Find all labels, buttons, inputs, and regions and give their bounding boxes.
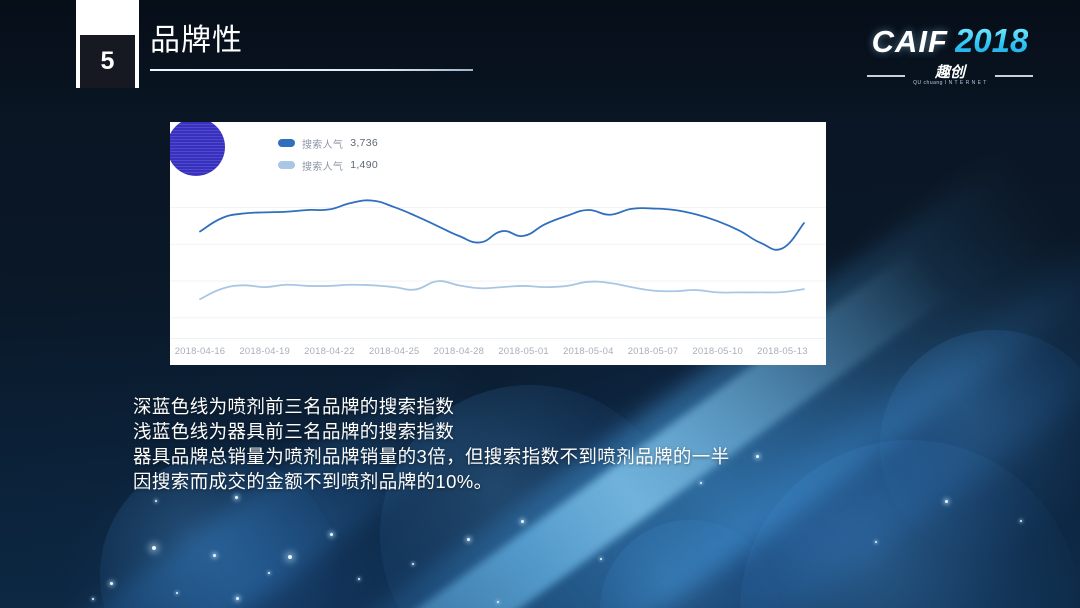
background-star [176, 592, 178, 594]
background-star [358, 578, 360, 580]
x-axis-tick-label: 2018-05-07 [628, 346, 679, 357]
brand-name: CAIF [872, 24, 948, 60]
background-star [875, 541, 877, 543]
x-axis-tick-label: 2018-04-19 [239, 346, 290, 357]
slide-number-inner: 5 [80, 35, 135, 88]
notes-line-3: 器具品牌总销量为喷剂品牌销量的3倍，但搜索指数不到喷剂品牌的一半 [133, 444, 730, 469]
chart-series-paths [200, 200, 804, 299]
background-star [213, 554, 216, 557]
chart-plot-area [170, 122, 826, 365]
chart-line [200, 281, 804, 299]
legend-swatch-icon [278, 139, 295, 147]
brand-sub-row: 趣创 QU chuang I N T E R N E T [855, 65, 1045, 86]
background-star [521, 520, 524, 523]
notes-block: 深蓝色线为喷剂前三名品牌的搜索指数 浅蓝色线为器具前三名品牌的搜索指数 器具品牌… [133, 394, 730, 494]
legend-label: 搜索人气 [302, 158, 343, 173]
notes-line-4: 因搜索而成交的金额不到喷剂品牌的10%。 [133, 469, 730, 494]
slide-number-badge: 5 [76, 0, 139, 88]
background-star [288, 555, 292, 559]
x-axis-tick-label: 2018-05-10 [692, 346, 743, 357]
background-star [1020, 520, 1022, 522]
notes-line-2: 浅蓝色线为器具前三名品牌的搜索指数 [133, 419, 730, 444]
brand-year: 2018 [955, 22, 1028, 60]
background-star [155, 500, 157, 502]
background-star [268, 572, 270, 574]
background-star [235, 496, 238, 499]
legend-value: 1,490 [350, 159, 378, 171]
background-star [600, 558, 602, 560]
legend-item[interactable]: 搜索人气 1,490 [278, 154, 378, 176]
brand-tagline: QU chuang I N T E R N E T [913, 81, 987, 86]
brand-logo: CAIF 2018 趣创 QU chuang I N T E R N E T [855, 22, 1045, 86]
background-star [330, 533, 333, 536]
title-underline [150, 69, 473, 71]
slide-root: 5 品牌性 CAIF 2018 趣创 QU chuang I N T E R N… [0, 0, 1080, 608]
background-star [412, 563, 414, 565]
chart-gridlines [170, 208, 826, 318]
x-axis-tick-label: 2018-04-25 [369, 346, 420, 357]
background-star [110, 582, 113, 585]
legend-swatch-icon [278, 161, 295, 169]
brand-logo-row: CAIF 2018 [855, 22, 1045, 60]
x-axis-tick-label: 2018-05-13 [757, 346, 808, 357]
chart-legend: 搜索人气 3,736 搜索人气 1,490 [278, 132, 378, 176]
background-star [236, 597, 239, 600]
x-axis-tick-label: 2018-04-28 [434, 346, 485, 357]
chart-x-axis: 2018-04-162018-04-192018-04-222018-04-25… [170, 338, 826, 365]
legend-label: 搜索人气 [302, 136, 343, 151]
legend-value: 3,736 [350, 137, 378, 149]
notes-line-1: 深蓝色线为喷剂前三名品牌的搜索指数 [133, 394, 730, 419]
brand-rule-right [995, 75, 1033, 77]
page-title: 品牌性 [150, 26, 243, 56]
background-star [756, 455, 759, 458]
brand-rule-left [867, 75, 905, 77]
background-star [92, 598, 94, 600]
background-star [497, 601, 499, 603]
brand-chinese: 趣创 [935, 65, 965, 80]
x-axis-tick-label: 2018-04-22 [304, 346, 355, 357]
background-star [945, 500, 948, 503]
brand-chinese-block: 趣创 QU chuang I N T E R N E T [913, 65, 987, 86]
background-star [152, 546, 156, 550]
background-star [467, 538, 470, 541]
x-axis-tick-label: 2018-05-01 [498, 346, 549, 357]
chart-panel: 搜索人气 3,736 搜索人气 1,490 2018-04-162018-04-… [170, 122, 826, 365]
legend-item[interactable]: 搜索人气 3,736 [278, 132, 378, 154]
x-axis-tick-label: 2018-05-04 [563, 346, 614, 357]
slide-number-text: 5 [101, 49, 115, 74]
x-axis-tick-label: 2018-04-16 [175, 346, 226, 357]
